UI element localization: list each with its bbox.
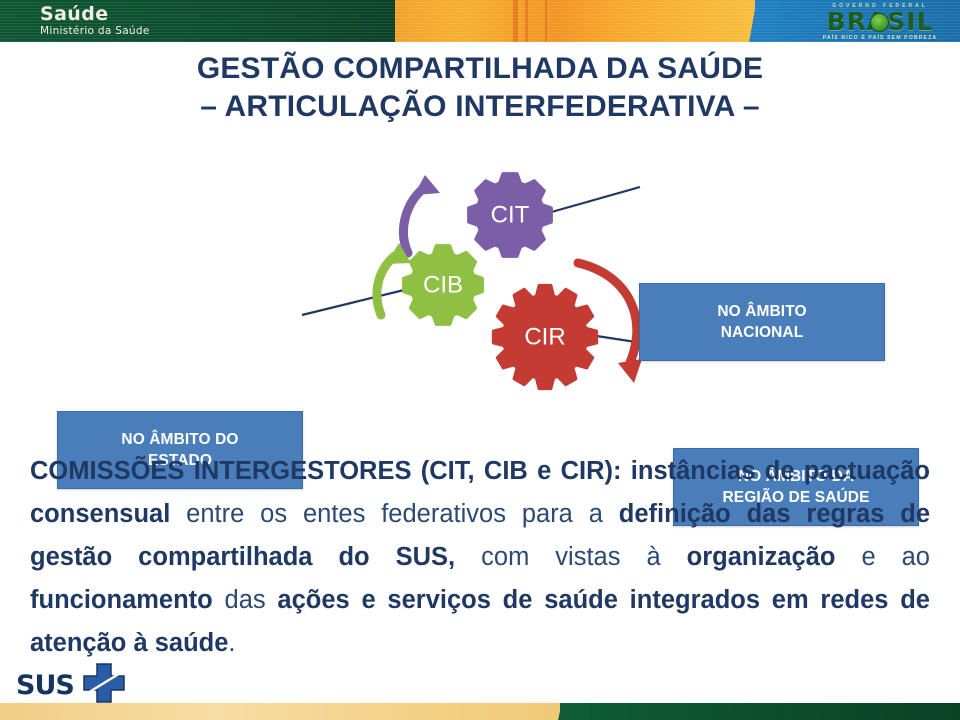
brasil-logo-wordmark: BRASIL (814, 10, 946, 34)
sus-cross-icon (82, 663, 126, 703)
connector-cit-to-nacional (548, 187, 640, 213)
paragraph-segment-4: organização (687, 543, 836, 571)
paragraph-segment-5: e ao (835, 543, 930, 571)
page-title-line-2: – ARTICULAÇÃO INTERFEDERATIVA – (0, 88, 960, 126)
slide: Saúde Ministério da Saúde GOVERNO FEDERA… (0, 0, 960, 720)
footer-gold-band (0, 703, 620, 720)
gear-layer: CITCIBCIR (404, 174, 597, 389)
brasil-globe-icon (870, 13, 889, 32)
footer-green-band (560, 703, 960, 720)
gear-cit-label: CIT (491, 201, 530, 228)
page-title-line-1: GESTÃO COMPARTILHADA DA SAÚDE (0, 50, 960, 88)
interfederative-diagram: CITCIBCIR NO ÂMBITO NACIONAL NO ÂMBITO D… (0, 135, 960, 415)
sus-logo: SUS (16, 660, 146, 704)
gear-cib[interactable]: CIB (404, 246, 483, 325)
government-banner: Saúde Ministério da Saúde GOVERNO FEDERA… (0, 0, 960, 42)
paragraph-segment-7: das (213, 586, 278, 614)
ministry-of-health-logo: Saúde Ministério da Saúde (40, 4, 150, 38)
arrow-cit-icon (403, 175, 440, 253)
paragraph-segment-3: com vistas à (455, 543, 687, 571)
paragraph-segment-1: entre os entes federativos para a (170, 500, 618, 528)
callout-nacional[interactable]: NO ÂMBITO NACIONAL (639, 283, 885, 361)
ministry-title: Saúde (40, 4, 150, 24)
paragraph-segment-9: . (228, 629, 235, 657)
page-title: GESTÃO COMPARTILHADA DA SAÚDE – ARTICULA… (0, 50, 960, 126)
connector-cib-to-estado (302, 290, 404, 315)
gear-cib-label: CIB (423, 271, 463, 298)
gear-cir-label: CIR (524, 323, 565, 350)
gear-cit[interactable]: CIT (469, 174, 552, 257)
body-paragraph: COMISSÕES INTERGESTORES (CIT, CIB e CIR)… (30, 450, 930, 665)
paragraph-segment-6: funcionamento (30, 586, 213, 614)
footer-bar (0, 703, 960, 720)
ministry-subtitle: Ministério da Saúde (40, 24, 150, 38)
diagram-canvas: CITCIBCIR (0, 135, 960, 415)
callout-nacional-line-1: NO ÂMBITO (717, 303, 806, 320)
callout-estado-line-1: NO ÂMBITO DO (121, 431, 238, 448)
sus-wordmark: SUS (16, 670, 74, 701)
brasil-government-logo: GOVERNO FEDERAL BRASIL PAÍS RICO É PAÍS … (814, 3, 946, 39)
callout-nacional-line-2: NACIONAL (721, 324, 804, 341)
gear-cir[interactable]: CIR (493, 285, 596, 388)
